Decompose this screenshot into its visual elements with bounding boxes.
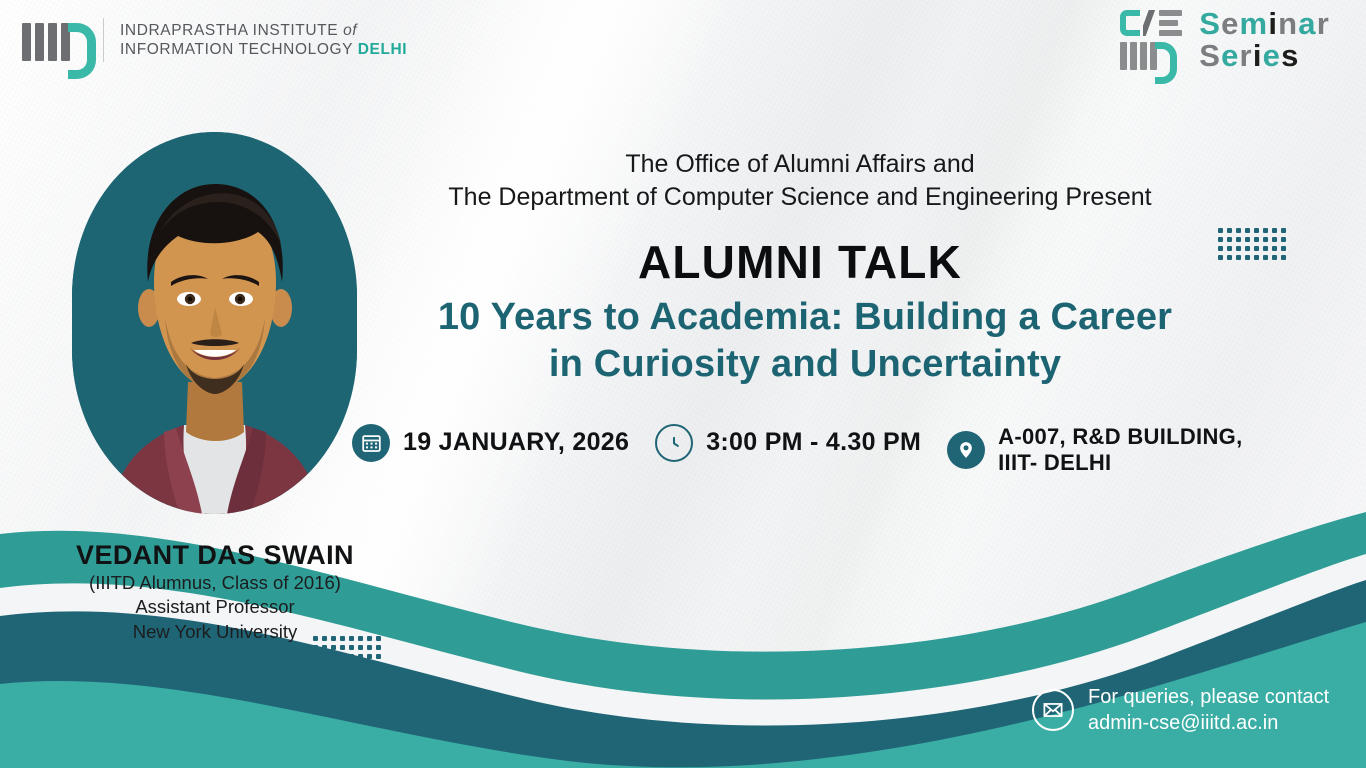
event-details-row: 19 JANUARY, 2026 3:00 PM - 4.30 PM A-007… <box>352 424 1242 476</box>
iiitd-mini-logo-icon <box>1120 41 1186 70</box>
event-venue-text: A-007, R&D BUILDING, IIIT- DELHI <box>998 424 1242 476</box>
speaker-portrait-image <box>72 132 357 514</box>
speaker-info: VEDANT DAS SWAIN (IIITD Alumnus, Class o… <box>0 540 430 644</box>
presented-by-line-2: The Department of Computer Science and E… <box>330 181 1270 214</box>
series-word: Series <box>1199 40 1330 72</box>
institute-delhi-accent: DELHI <box>358 41 408 58</box>
cse-slash-icon <box>1143 10 1156 36</box>
institute-line1: INDRAPRASTHA INSTITUTE <box>120 22 343 39</box>
event-venue-line-2: IIIT- DELHI <box>998 450 1111 475</box>
event-date-text: 19 JANUARY, 2026 <box>403 428 629 458</box>
institute-line2: INFORMATION TECHNOLOGY <box>120 41 358 58</box>
event-time-text: 3:00 PM - 4.30 PM <box>706 428 921 458</box>
dot-grid-decoration-bottom <box>313 636 381 668</box>
event-date: 19 JANUARY, 2026 <box>352 424 629 462</box>
contact-block: For queries, please contact admin-cse@ii… <box>1032 684 1329 737</box>
cse-logo-icon <box>1120 9 1186 70</box>
presented-by-line-1: The Office of Alumni Affairs and <box>330 148 1270 181</box>
talk-title-line-1: 10 Years to Academia: Building a Career <box>330 294 1280 341</box>
talk-title-line-2: in Curiosity and Uncertainty <box>330 341 1280 388</box>
speaker-affiliation-2: Assistant Professor <box>0 595 430 619</box>
speaker-affiliation-1: (IIITD Alumnus, Class of 2016) <box>0 571 430 595</box>
seminar-series-text: Seminar Series <box>1199 8 1330 71</box>
event-venue: A-007, R&D BUILDING, IIIT- DELHI <box>947 424 1242 476</box>
calendar-icon <box>352 424 390 462</box>
header-divider <box>103 18 104 62</box>
speaker-portrait <box>72 132 357 514</box>
clock-icon <box>655 424 693 462</box>
event-venue-line-1: A-007, R&D BUILDING, <box>998 424 1242 449</box>
cse-letter-e-icon <box>1159 10 1182 36</box>
seminar-word: Seminar <box>1199 8 1330 40</box>
presented-by: The Office of Alumni Affairs and The Dep… <box>330 148 1270 214</box>
talk-title: 10 Years to Academia: Building a Career … <box>330 294 1280 388</box>
event-time: 3:00 PM - 4.30 PM <box>655 424 921 462</box>
cse-letter-c-icon <box>1120 10 1140 36</box>
contact-text: For queries, please contact admin-cse@ii… <box>1088 684 1329 737</box>
speaker-name: VEDANT DAS SWAIN <box>0 540 430 571</box>
institute-name: INDRAPRASTHA INSTITUTE of INFORMATION TE… <box>120 21 407 60</box>
seminar-series-branding: Seminar Series <box>1120 8 1330 71</box>
institute-branding: INDRAPRASTHA INSTITUTE of INFORMATION TE… <box>22 18 407 62</box>
iiitd-logo-icon <box>22 19 87 61</box>
event-type-heading: ALUMNI TALK <box>330 235 1270 289</box>
dot-grid-decoration-top <box>1218 228 1286 260</box>
location-pin-icon <box>947 431 985 469</box>
envelope-icon <box>1032 689 1074 731</box>
contact-email: admin-cse@iiitd.ac.in <box>1088 712 1278 734</box>
poster-canvas: INDRAPRASTHA INSTITUTE of INFORMATION TE… <box>0 0 1366 768</box>
institute-line1-italic: of <box>343 22 357 39</box>
contact-line-1: For queries, please contact <box>1088 686 1329 708</box>
